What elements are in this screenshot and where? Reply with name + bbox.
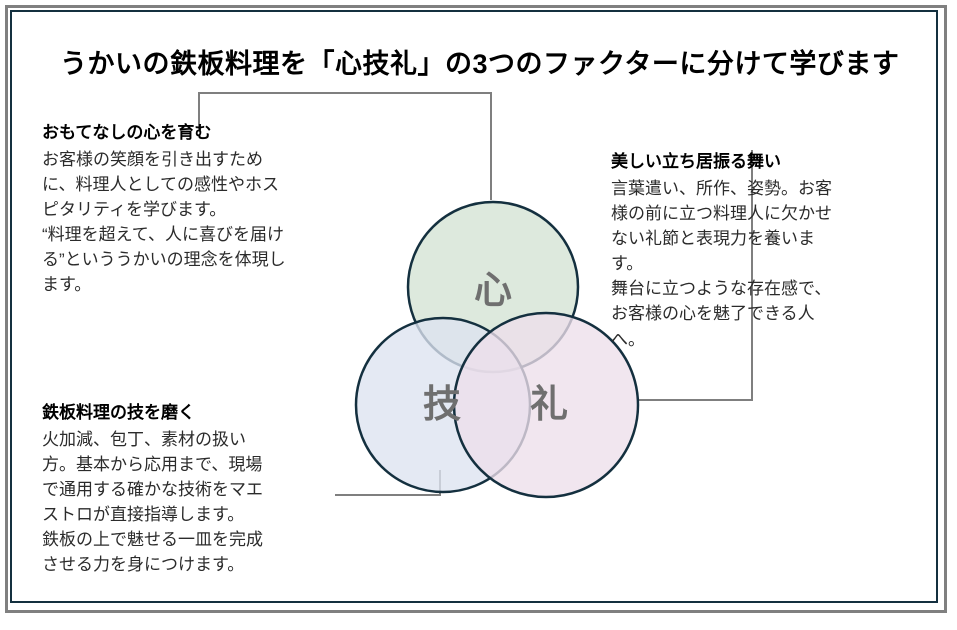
venn-label-gi: 技 (423, 382, 461, 426)
text-block-gi: 鉄板料理の技を磨く 火加減、包丁、素材の扱い 方。基本から応用まで、現場 で通用… (42, 401, 362, 578)
text-block-gi-heading: 鉄板料理の技を磨く (42, 401, 362, 426)
text-block-kokoro-body: お客様の笑顔を引き出すため に、料理人としての感性やホス ピタリティを学びます。… (42, 147, 362, 298)
venn-label-rei: 礼 (530, 382, 568, 426)
text-block-gi-body: 火加減、包丁、素材の扱い 方。基本から応用まで、現場 で通用する確かな技術をマエ… (42, 427, 362, 578)
text-block-kokoro-heading: おもてなしの心を育む (42, 121, 362, 146)
venn-label-kokoro: 心 (474, 268, 512, 312)
text-block-kokoro: おもてなしの心を育む お客様の笑顔を引き出すため に、料理人としての感性やホス … (42, 121, 362, 298)
text-block-rei: 美しい立ち居振る舞い 言葉遣い、所作、姿勢。お客 様の前に立つ料理人に欠かせ な… (611, 150, 931, 352)
slide-canvas: うかいの鉄板料理を「心技礼」の3つのファクターに分けて学びます 心 技 礼 おも… (0, 0, 957, 630)
text-block-rei-body: 言葉遣い、所作、姿勢。お客 様の前に立つ料理人に欠かせ ない礼節と表現力を養いま… (611, 176, 931, 352)
text-block-rei-heading: 美しい立ち居振る舞い (611, 150, 931, 175)
